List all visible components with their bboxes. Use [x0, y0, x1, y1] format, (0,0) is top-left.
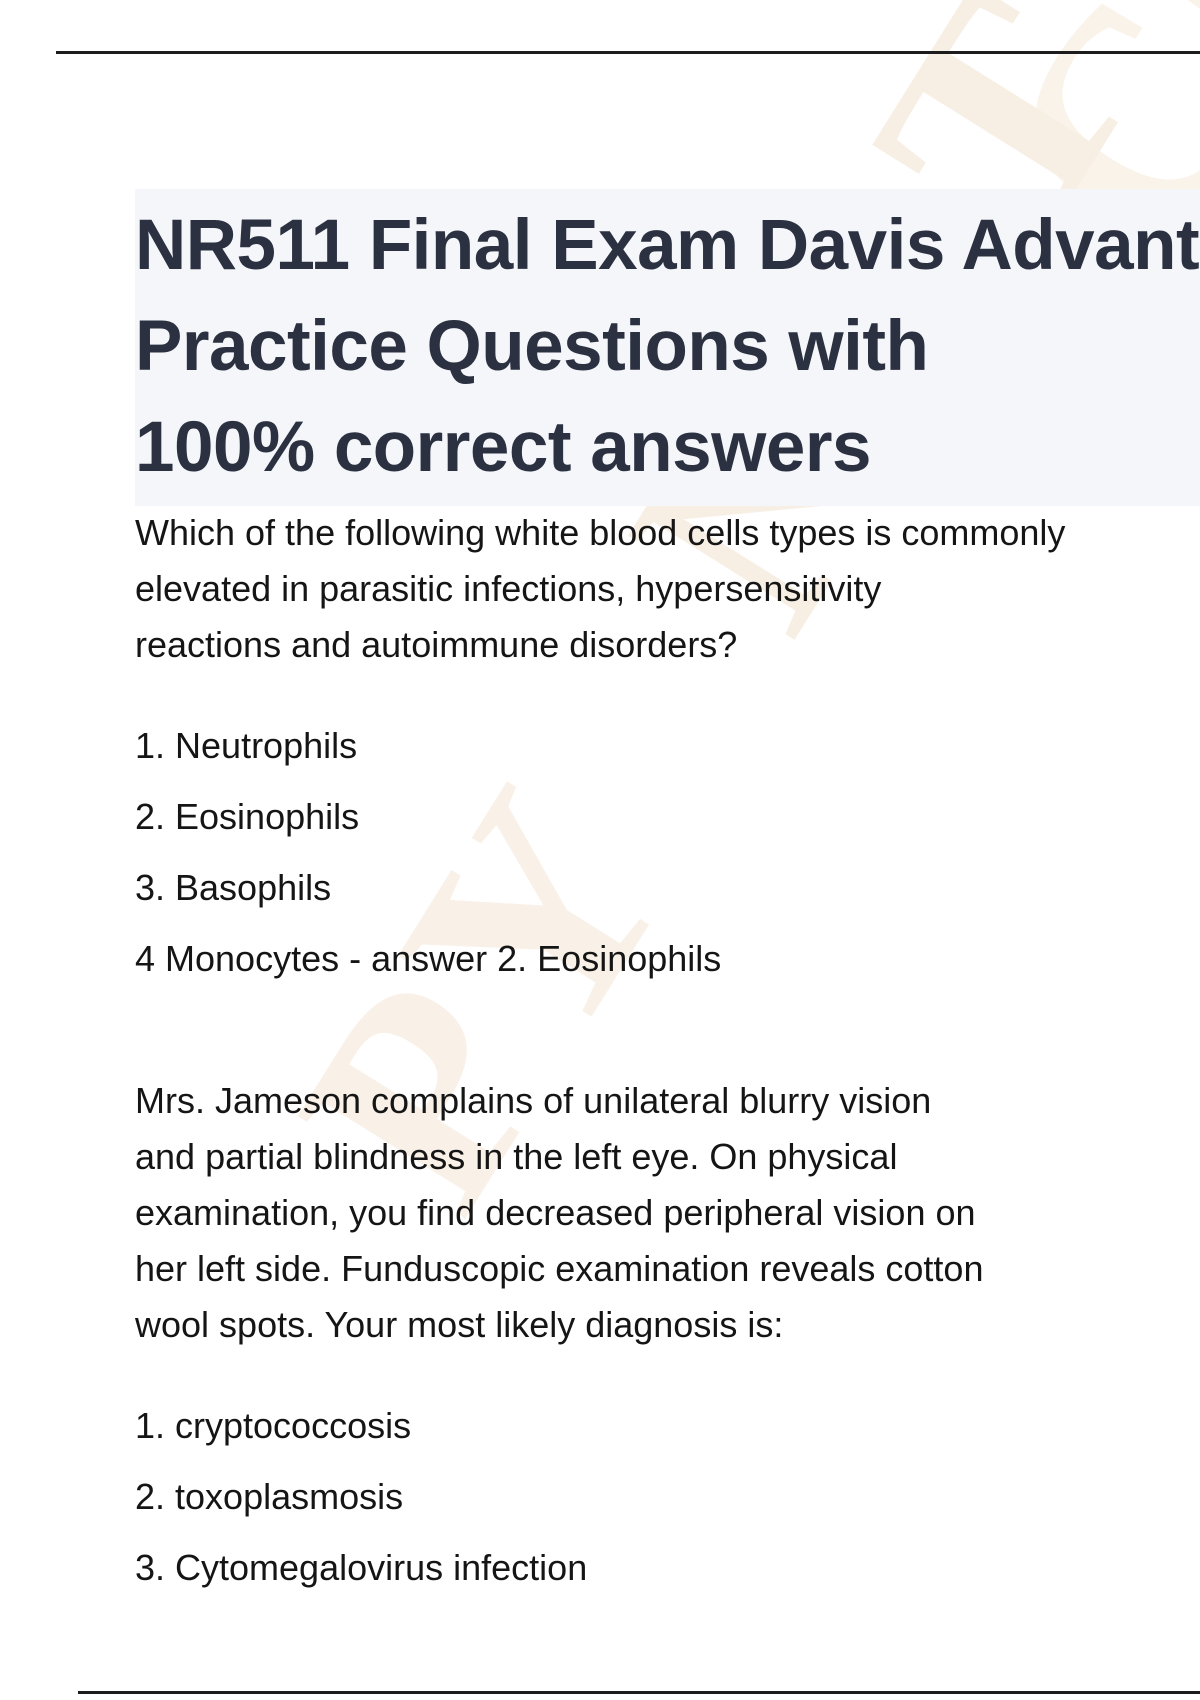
question-stem-line: and partial blindness in the left eye. O…: [135, 1129, 1105, 1185]
page-top-divider: [56, 51, 1200, 54]
document-page: NR511 Final Exam Davis Advantage Practic…: [0, 0, 1200, 1700]
question-stem: Mrs. Jameson complains of unilateral blu…: [135, 1073, 1105, 1353]
spacer: [135, 987, 1105, 1073]
question-stem-line: examination, you find decreased peripher…: [135, 1185, 1105, 1241]
answer-option-with-answer: 4 Monocytes - answer 2. Eosinophils: [135, 931, 1105, 987]
question-stem: Which of the following white blood cells…: [135, 505, 1105, 673]
question-stem-line: reactions and autoimmune disorders?: [135, 617, 1105, 673]
spacer: [135, 673, 1105, 703]
spacer: [135, 1353, 1105, 1383]
question-stem-line: her left side. Funduscopic examination r…: [135, 1241, 1105, 1297]
answer-option: 1. cryptococcosis: [135, 1398, 1105, 1454]
question-block: Which of the following white blood cells…: [135, 505, 1105, 987]
answer-option: 2. toxoplasmosis: [135, 1469, 1105, 1525]
answer-option: 3. Cytomegalovirus infection: [135, 1540, 1105, 1596]
answer-option: 2. Eosinophils: [135, 789, 1105, 845]
page-title-line: NR511 Final Exam Davis Advantage: [135, 206, 1200, 285]
answer-option: 3. Basophils: [135, 860, 1105, 916]
page-bottom-divider: [78, 1691, 1200, 1694]
page-title: NR511 Final Exam Davis Advantage Practic…: [135, 189, 1200, 506]
question-stem-line: Mrs. Jameson complains of unilateral blu…: [135, 1073, 1105, 1129]
question-block: Mrs. Jameson complains of unilateral blu…: [135, 1073, 1105, 1596]
page-title-line: Practice Questions with: [135, 307, 928, 386]
question-stem-line: Which of the following white blood cells…: [135, 505, 1105, 561]
answer-option: 1. Neutrophils: [135, 718, 1105, 774]
document-body: Which of the following white blood cells…: [135, 505, 1105, 1596]
question-stem-line: elevated in parasitic infections, hypers…: [135, 561, 1105, 617]
question-stem-line: wool spots. Your most likely diagnosis i…: [135, 1297, 1105, 1353]
page-title-line: 100% correct answers: [135, 408, 871, 487]
